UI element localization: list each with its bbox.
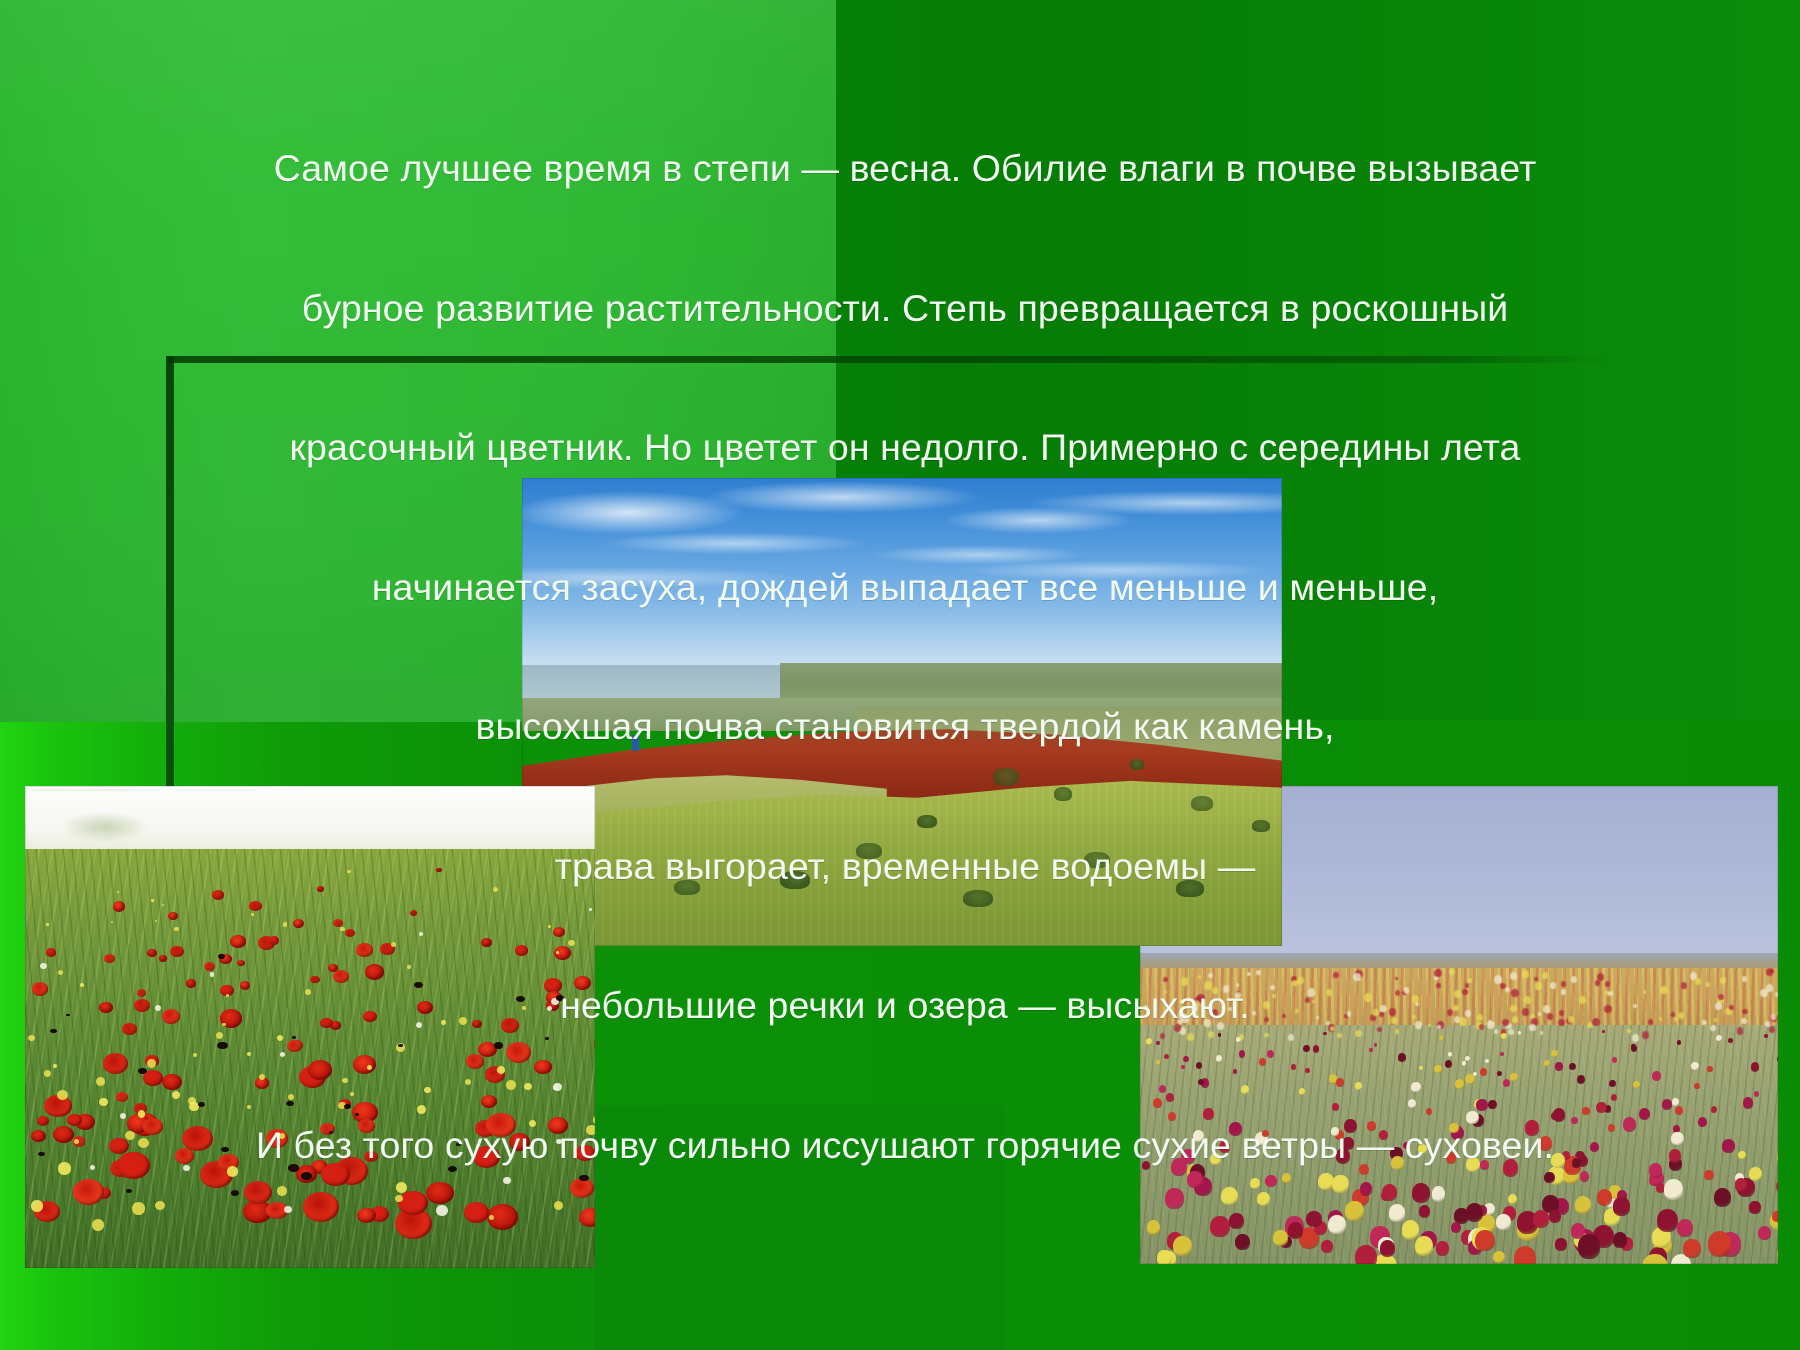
body-text-line: Самое лучшее время в степи — весна. Обил…	[60, 145, 1750, 192]
body-text-line: высохшая почва становится твердой как ка…	[60, 703, 1750, 750]
slide-body-text: Самое лучшее время в степи — весна. Обил…	[60, 52, 1750, 1261]
body-text-line: небольшие речки и озера — высыхают.	[60, 982, 1750, 1029]
body-text-line: начинается засуха, дождей выпадает все м…	[60, 564, 1750, 611]
body-text-line: красочный цветник. Но цветет он недолго.…	[60, 424, 1750, 471]
presentation-slide: Самое лучшее время в степи — весна. Обил…	[0, 0, 1800, 1350]
body-text-line: трава выгорает, временные водоемы —	[60, 843, 1750, 890]
body-text-line: бурное развитие растительности. Степь пр…	[60, 285, 1750, 332]
body-text-line: И без того сухую почву сильно иссушают г…	[60, 1122, 1750, 1169]
